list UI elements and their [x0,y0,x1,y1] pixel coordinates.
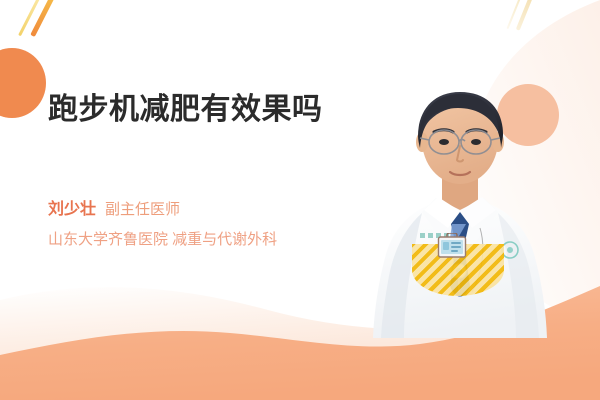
doctor-eye-right [471,139,481,145]
doctor-eye-left [439,139,449,145]
doctor-credentials: 刘少壮副主任医师 山东大学齐鲁医院 减重与代谢外科 [48,198,368,251]
doctor-portrait [360,78,560,338]
headline-block: 跑步机减肥有效果吗 [48,90,348,129]
doctor-feature-card: 跑步机减肥有效果吗 刘少壮副主任医师 山东大学齐鲁医院 减重与代谢外科 [0,0,600,400]
stripe-orange-icon [30,0,56,37]
doctor-name: 刘少壮 [48,201,96,218]
diagonal-stripes-top-right [508,0,558,36]
doctor-affiliation: 山东大学齐鲁医院 减重与代谢外科 [48,229,368,251]
stripe-yellow-icon [18,0,42,36]
page-title: 跑步机减肥有效果吗 [48,90,348,129]
stripe-pale-icon [507,0,522,29]
diagonal-stripes-top-left [22,0,82,48]
hospital-id-badge [437,233,467,259]
stripe-cream-icon [516,0,534,31]
doctor-rank: 副主任医师 [105,201,180,218]
orange-circle-decoration [0,48,46,118]
doctor-name-row: 刘少壮副主任医师 [48,198,368,222]
